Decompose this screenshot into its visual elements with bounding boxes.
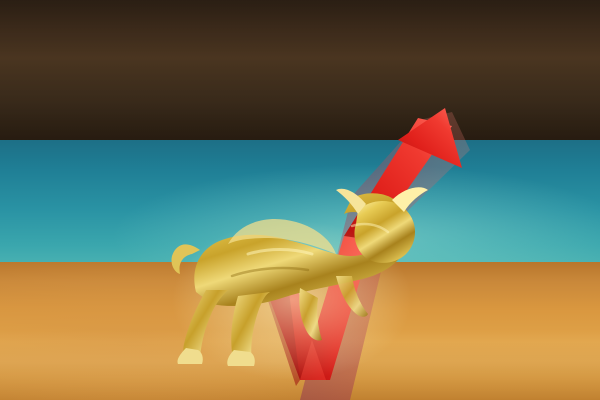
floor-reflection-sheen [0, 330, 600, 400]
gold-floor-band [0, 262, 600, 400]
teal-bar-chart-band [0, 140, 600, 268]
banner-image [0, 0, 600, 400]
top-ticker-band [0, 0, 600, 142]
